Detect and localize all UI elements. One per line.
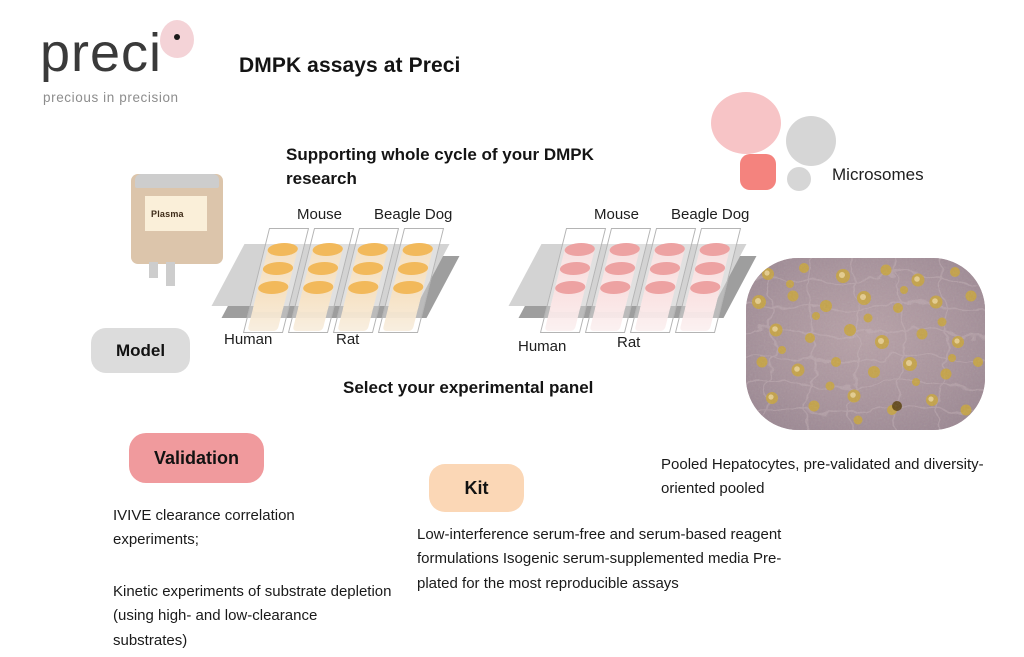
validation-paragraph-1: IVIVE clearance correlation experiments; <box>113 504 383 553</box>
plate-label-rat: Rat <box>617 334 640 351</box>
logo-dot-icon <box>174 34 180 40</box>
plate-label-rat: Rat <box>336 331 359 348</box>
plate-label-beagle-dog: Beagle Dog <box>374 206 452 223</box>
validation-paragraph-2: Kinetic experiments of substrate depleti… <box>113 580 393 653</box>
slide-canvas: preci precious in precision DMPK assays … <box>0 0 1024 657</box>
plasma-bag-cap <box>135 174 219 188</box>
microsomes-label: Microsomes <box>832 165 924 185</box>
plasma-bag-port-left <box>149 262 158 278</box>
microsome-blob-gray-icon <box>786 116 836 166</box>
validation-pill[interactable]: Validation <box>129 433 264 483</box>
plasma-bag-port-right <box>166 262 175 286</box>
kit-paragraph: Low-interference serum-free and serum-ba… <box>417 523 807 596</box>
brand-logo: preci precious in precision <box>40 18 250 108</box>
page-title: DMPK assays at Preci <box>239 54 460 78</box>
hepatocyte-caption: Pooled Hepatocytes, pre-validated and di… <box>661 453 1001 502</box>
plasma-bag-label: Plasma <box>145 196 207 231</box>
plasma-bag-illustration: Plasma <box>131 174 223 274</box>
logo-wordmark: preci <box>40 26 162 80</box>
microsome-blob-small-pink-icon <box>740 154 776 190</box>
model-pill[interactable]: Model <box>91 328 190 373</box>
microsome-blob-small-gray-icon <box>787 167 811 191</box>
logo-tagline: precious in precision <box>43 90 179 105</box>
plate-label-mouse: Mouse <box>297 206 342 223</box>
microsome-sample-plate <box>525 228 755 343</box>
microsomes-illustration: Microsomes <box>706 90 1006 200</box>
microsome-blob-large-pink-icon <box>711 92 781 154</box>
plate-label-beagle-dog: Beagle Dog <box>671 206 749 223</box>
select-panel-heading: Select your experimental panel <box>343 378 593 398</box>
plate-label-mouse: Mouse <box>594 206 639 223</box>
plate-label-human: Human <box>518 338 566 355</box>
plate-label-human: Human <box>224 331 272 348</box>
plasma-label-text: Plasma <box>151 209 184 219</box>
hepatocyte-micrograph <box>746 258 985 430</box>
plasma-sample-plate <box>228 228 458 343</box>
kit-pill[interactable]: Kit <box>429 464 524 512</box>
supporting-heading: Supporting whole cycle of your DMPK rese… <box>286 143 606 191</box>
